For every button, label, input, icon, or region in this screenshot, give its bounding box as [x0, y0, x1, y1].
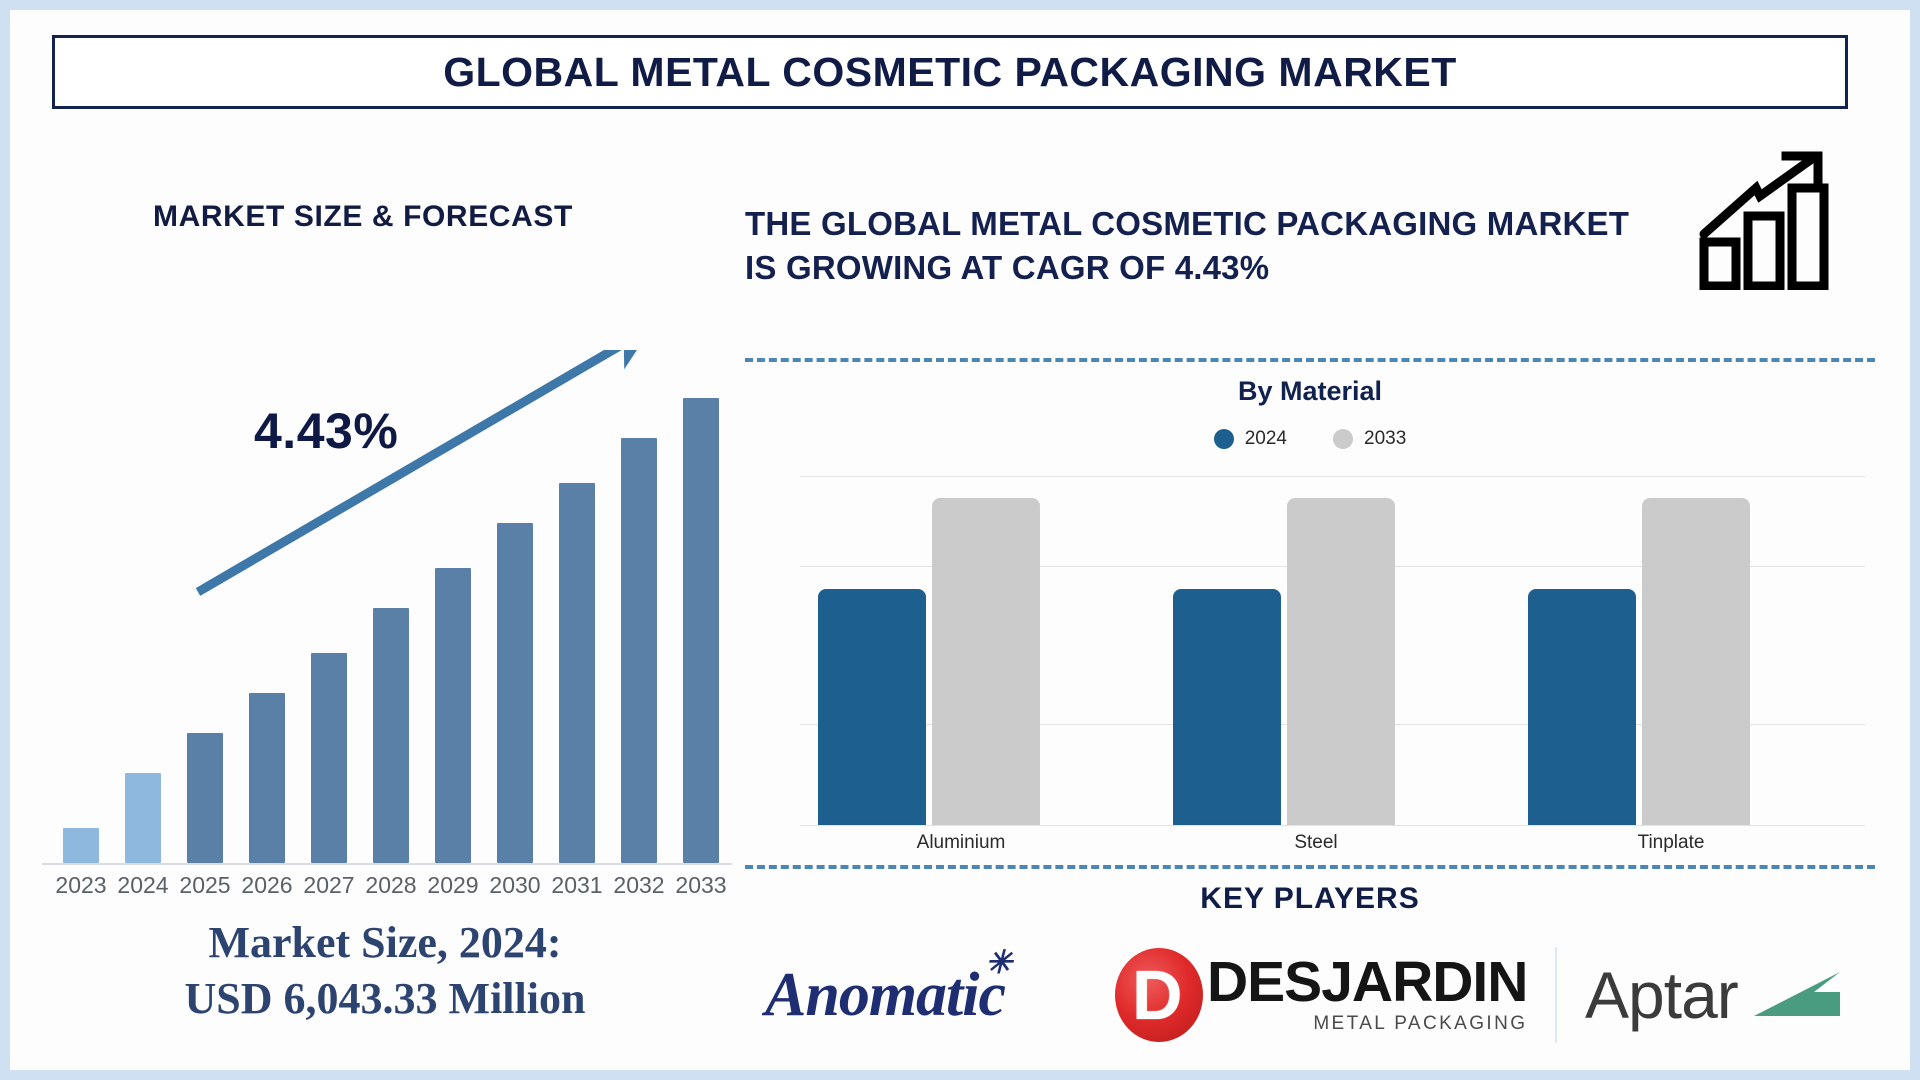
year-axis-labels: 2023202420252026202720282029203020312032…: [30, 872, 730, 906]
chart-baseline: [42, 863, 732, 865]
by-material-chart: [800, 465, 1865, 825]
legend-swatch-icon: [1333, 429, 1353, 449]
market-size-forecast-heading: MARKET SIZE & FORECAST: [153, 200, 573, 234]
divider-top: [745, 358, 1875, 362]
market-size-line-1: Market Size, 2024:: [80, 915, 690, 971]
logo-anomatic: Anomatic ✳: [710, 935, 1060, 1055]
cagr-headline: THE GLOBAL METAL COSMETIC PACKAGING MARK…: [745, 202, 1645, 289]
cagr-callout: 4.43%: [254, 402, 398, 460]
logo-aptar-text: Aptar: [1585, 962, 1738, 1028]
year-label: 2033: [669, 872, 733, 899]
logo-desjardin-tagline: METAL PACKAGING: [1207, 1013, 1527, 1035]
material-bar: [932, 498, 1040, 825]
forecast-bar: [497, 523, 533, 863]
material-chart-legend: 20242033: [745, 428, 1875, 450]
bar-chart-growth-icon: [1698, 150, 1830, 290]
year-label: 2025: [173, 872, 237, 899]
key-players-title: KEY PLAYERS: [745, 882, 1875, 916]
material-label: Aluminium: [851, 832, 1071, 854]
page-title: GLOBAL METAL COSMETIC PACKAGING MARKET: [443, 49, 1457, 96]
by-material-title: By Material: [745, 376, 1875, 407]
year-label: 2028: [359, 872, 423, 899]
forecast-bar: [187, 733, 223, 863]
material-label: Steel: [1206, 832, 1426, 854]
divider-bottom: [745, 865, 1875, 869]
material-bar: [1642, 498, 1750, 825]
gridline: [800, 825, 1865, 826]
legend-swatch-icon: [1214, 429, 1234, 449]
year-label: 2029: [421, 872, 485, 899]
material-bar: [818, 589, 926, 825]
legend-item: 2033: [1333, 428, 1406, 450]
aptar-triangle-icon: [1752, 970, 1844, 1020]
material-bar: [1173, 589, 1281, 825]
market-size-line-2: USD 6,043.33 Million: [80, 971, 690, 1027]
forecast-bar: [63, 828, 99, 863]
material-bar: [1528, 589, 1636, 825]
logo-anomatic-text: Anomatic: [765, 961, 1005, 1029]
year-label: 2032: [607, 872, 671, 899]
year-label: 2026: [235, 872, 299, 899]
forecast-bar: [311, 653, 347, 863]
logo-desjardin: DESJARDIN METAL PACKAGING: [1115, 935, 1510, 1055]
material-bar: [1287, 498, 1395, 825]
year-label: 2030: [483, 872, 547, 899]
legend-label: 2033: [1364, 428, 1406, 450]
forecast-bar: [683, 398, 719, 863]
forecast-bar: [621, 438, 657, 863]
forecast-bar: [373, 608, 409, 863]
logo-divider: [1555, 947, 1557, 1043]
forecast-bar: [125, 773, 161, 863]
material-label: Tinplate: [1561, 832, 1781, 854]
legend-label: 2024: [1245, 428, 1287, 450]
material-category-labels: AluminiumSteelTinplate: [800, 832, 1865, 862]
infographic-page: GLOBAL METAL COSMETIC PACKAGING MARKET M…: [0, 0, 1920, 1080]
year-label: 2024: [111, 872, 175, 899]
year-label: 2031: [545, 872, 609, 899]
year-label: 2027: [297, 872, 361, 899]
year-label: 2023: [49, 872, 113, 899]
forecast-bar: [435, 568, 471, 863]
market-size-value: Market Size, 2024: USD 6,043.33 Million: [80, 915, 690, 1028]
star-icon: ✳: [985, 946, 1011, 978]
forecast-bar: [249, 693, 285, 863]
page-title-box: GLOBAL METAL COSMETIC PACKAGING MARKET: [52, 35, 1848, 109]
legend-item: 2024: [1214, 428, 1287, 450]
gridline: [800, 476, 1865, 477]
key-players-logos: Anomatic ✳ DESJARDIN METAL PACKAGING Apt…: [710, 935, 1895, 1070]
globe-icon: [1115, 948, 1203, 1042]
infographic-canvas: GLOBAL METAL COSMETIC PACKAGING MARKET M…: [10, 10, 1910, 1070]
logo-aptar: Aptar: [1555, 935, 1895, 1055]
forecast-bar: [559, 483, 595, 863]
logo-desjardin-text: DESJARDIN: [1207, 955, 1527, 1010]
